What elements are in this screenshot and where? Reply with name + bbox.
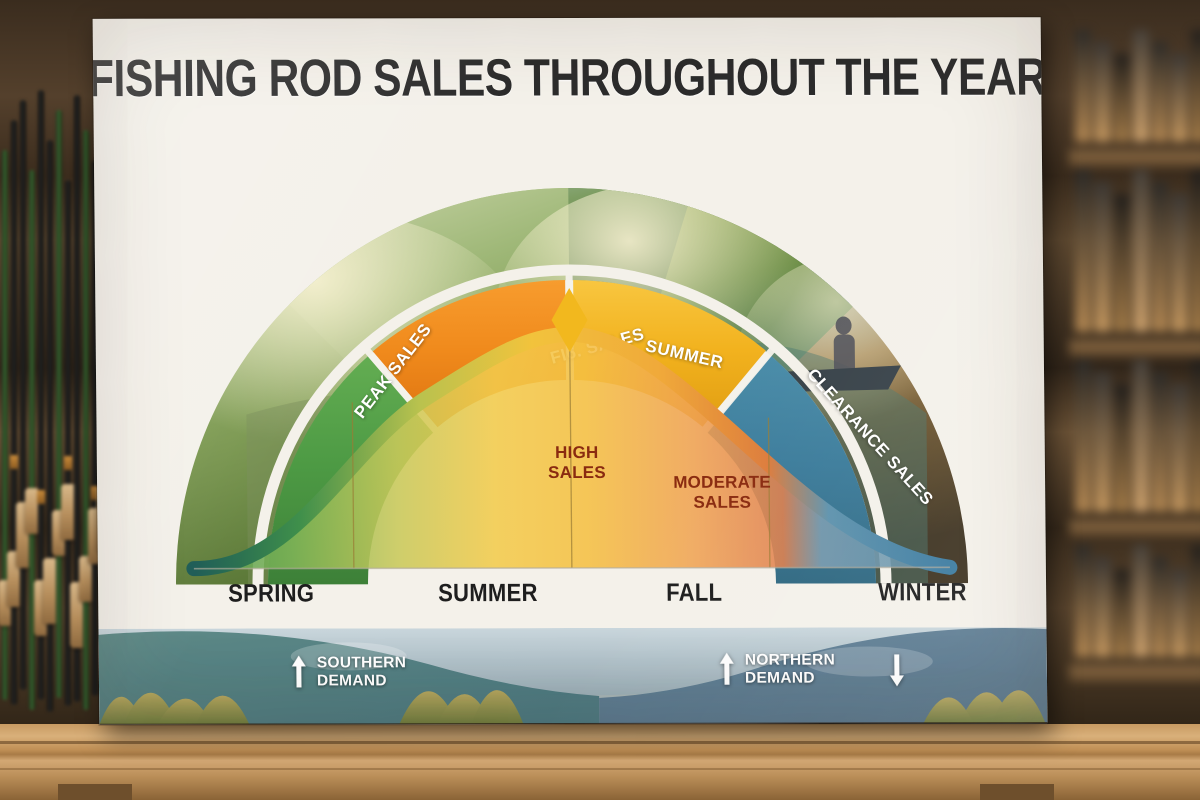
curve-label-line1: MODERATE (637, 473, 807, 493)
retail-store-scene: FISHING ROD SALES THROUGHOUT THE YEAR (0, 0, 1200, 800)
northern-demand-line2: DEMAND (745, 669, 835, 687)
arrow-down-icon (889, 653, 905, 687)
curve-label-moderate-sales: MODERATE SALES (637, 473, 807, 513)
curve-label-line1: HIGH (517, 443, 637, 463)
store-shelving-background (1075, 0, 1200, 760)
regional-demand-band: SOUTHERN DEMAND NORTHERN DEMAND (98, 627, 1047, 725)
season-label-spring: SPRING (228, 579, 314, 609)
northern-demand-label: NORTHERN DEMAND (745, 652, 836, 688)
arrow-up-icon (291, 654, 307, 688)
southern-demand-line2: DEMAND (317, 672, 407, 690)
page-title: FISHING ROD SALES THROUGHOUT THE YEAR (93, 47, 1048, 109)
southern-demand-line1: SOUTHERN (317, 654, 407, 672)
sales-poster-board: FISHING ROD SALES THROUGHOUT THE YEAR (93, 17, 1048, 725)
season-label-fall: FALL (666, 578, 722, 608)
wooden-display-table (0, 724, 1200, 800)
curve-label-high-sales: HIGH SALES (517, 443, 637, 483)
southern-demand-label: SOUTHERN DEMAND (317, 654, 407, 690)
northern-demand-line1: NORTHERN (745, 652, 835, 670)
arrow-up-icon (719, 652, 735, 686)
curve-label-line2: SALES (637, 493, 807, 513)
sales-bell-curve: HIGH SALES MODERATE SALES (95, 267, 1046, 599)
curve-label-line2: SALES (517, 463, 637, 483)
season-label-winter: WINTER (878, 577, 967, 607)
season-label-summer: SUMMER (438, 578, 538, 608)
season-axis-labels: SPRING SUMMER FALL WINTER (98, 579, 1046, 625)
